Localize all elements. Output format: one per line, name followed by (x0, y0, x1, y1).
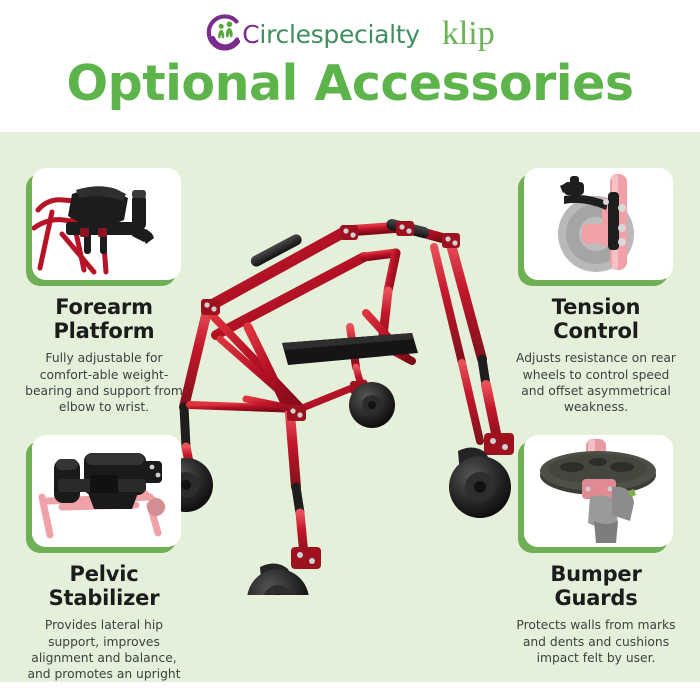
accessory-card-forearm-platform: Forearm Platform Fully adjustable for co… (18, 168, 190, 416)
brand-wordmark: Circlespecialty (242, 22, 420, 47)
forearm-platform-thumbnail (32, 168, 181, 280)
accessory-card-tension-control: Tension Control Adjusts resistance on re… (510, 168, 682, 416)
brand-wordmark-initial: C (242, 20, 259, 49)
tension-control-thumbnail (524, 168, 673, 280)
card-description: Fully adjustable for comfort-able weight… (18, 350, 190, 415)
brand-wordmark-rest: irclespecialty (259, 20, 419, 49)
thumb-wrap (26, 168, 181, 286)
thumb-wrap (518, 435, 673, 553)
hero-product-image (150, 195, 550, 595)
pelvic-stabilizer-thumbnail (32, 435, 181, 547)
accessory-card-bumper-guards: Bumper Guards Protects walls from marks … (510, 435, 682, 666)
page-title: Optional Accessories (0, 58, 700, 111)
brand-logo-row: Circlespecialty klip (0, 10, 700, 58)
card-title: Pelvic Stabilizer (18, 563, 190, 610)
card-title: Bumper Guards (510, 563, 682, 610)
thumb-wrap (518, 168, 673, 286)
header: Circlespecialty klip Optional Accessorie… (0, 0, 700, 132)
circlespecialty-circle-figures-icon (205, 14, 245, 54)
card-title: Forearm Platform (18, 296, 190, 343)
footer-strip (0, 682, 700, 700)
card-description: Adjusts resistance on rear wheels to con… (510, 350, 682, 415)
card-title: Tension Control (510, 296, 682, 343)
thumb-wrap (26, 435, 181, 553)
card-description: Protects walls from marks and dents and … (510, 617, 682, 666)
accessory-card-pelvic-stabilizer: Pelvic Stabilizer Provides lateral hip s… (18, 435, 190, 699)
accessories-infographic-page: Circlespecialty klip Optional Accessorie… (0, 0, 700, 700)
circlespecialty-logo: Circlespecialty (205, 14, 420, 54)
bumper-guards-thumbnail (524, 435, 673, 547)
klip-wordmark: klip (442, 17, 495, 51)
